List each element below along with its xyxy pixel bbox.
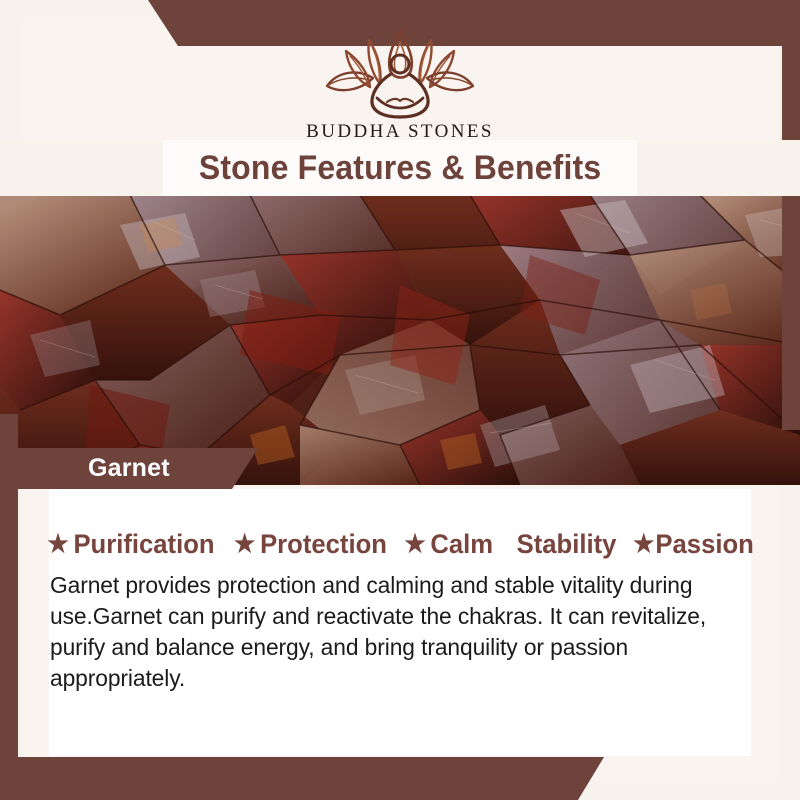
benefit-keyword-label: Passion [655,529,753,560]
left-border-decoration [0,414,18,800]
page-title: Stone Features & Benefits [199,149,602,188]
benefit-keyword-label: Protection [260,529,387,560]
star-icon: ★ [48,532,69,557]
brand-name: BUDDHA STONES [306,122,494,141]
stone-name-tag: Garnet [0,448,258,489]
star-icon: ★ [633,532,654,557]
benefit-keyword: ★ Purification [48,529,215,560]
benefit-keyword: ★ Passion [633,529,754,560]
lotus-meditation-figure-icon [315,28,485,120]
benefit-keyword: ★ Calm [405,529,494,560]
description-card: ★ Purification ★ Protection ★ Calm Stabi… [49,489,751,756]
benefit-keyword: ★ Protection [234,529,387,560]
star-icon: ★ [234,532,255,557]
benefit-keyword-label: Purification [74,529,215,560]
benefit-keyword-row: ★ Purification ★ Protection ★ Calm Stabi… [49,529,751,560]
benefit-keyword-label: Stability [516,529,616,560]
benefit-keyword: Stability [516,529,616,560]
stone-description: Garnet provides protection and calming a… [50,570,729,694]
star-icon: ★ [405,532,426,557]
benefit-keyword-label: Calm [431,529,494,560]
page-title-band: Stone Features & Benefits [0,140,800,196]
brand-header: BUDDHA STONES [0,0,800,145]
garnet-crystal-cluster-photo [0,195,800,485]
stone-info-poster: BUDDHA STONES Stone Features & Benefits [0,0,800,800]
stone-name-label: Garnet [88,454,170,483]
